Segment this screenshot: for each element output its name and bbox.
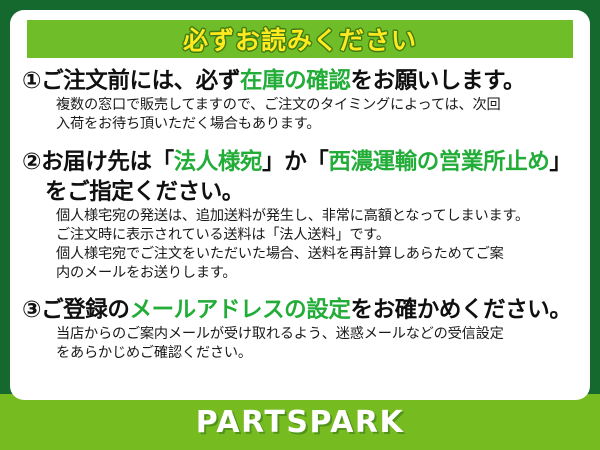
header-title: 必ずお読みください [183,21,417,57]
notice-item-1-subline-0: 複数の窓口で販売してますので、ご注文のタイミングによっては、次回 [22,96,580,115]
notice-item-3: ③ご登録のメールアドレスの設定をお確かめください。 当店からのご案内メールが受け… [22,295,580,363]
notice-item-2-highlight-1: 西濃運輸の営業所止め [328,149,549,175]
notice-item-1-number: ① [22,68,41,94]
notice-item-3-subline-1: をあらかじめご確認ください。 [22,344,580,363]
notice-item-2-part-0: お届け先は「 [41,149,174,175]
notice-item-1: ①ご注文前には、必ず在庫の確認をお願いします。 複数の窓口で販売してますので、ご… [22,66,580,134]
header-band: 必ずお読みください [27,20,573,58]
notice-item-1-part-0: ご注文前には、必ず [41,68,240,94]
notice-item-2-subline-2: 個人様宅宛でご注文をいただいた場合、送料を再計算しあらためてご案 [22,245,580,264]
brand-logo-text: PARTSPARK [196,405,405,440]
notice-item-3-part-0: ご登録の [41,297,129,323]
notice-item-2-subline-1: ご注文時に表示されている送料は「法人送料」です。 [22,226,580,245]
notice-item-2-heading: ②お届け先は「法人様宛」か「西濃運輸の営業所止め」 [22,147,580,177]
notice-item-2-number: ② [22,149,41,175]
notice-item-3-subline-0: 当店からのご案内メールが受け取れるよう、迷惑メールなどの受信設定 [22,325,580,344]
notice-item-2-heading-continuation: をご指定ください。 [22,177,580,207]
notice-items-list: ①ご注文前には、必ず在庫の確認をお願いします。 複数の窓口で販売してますので、ご… [10,66,590,369]
notice-item-1-part-2: をお願いします。 [351,68,526,94]
notice-item-2: ②お届け先は「法人様宛」か「西濃運輸の営業所止め」 をご指定ください。 個人様宅… [22,147,580,283]
notice-item-2-part-2: 」か「 [262,149,328,175]
notice-item-3-heading: ③ご登録のメールアドレスの設定をお確かめください。 [22,295,580,325]
notice-card: PARTSPARK 必ずお読みください ①ご注文前には、必ず在庫の確認をお願いし… [0,0,600,450]
content-panel: 必ずお読みください ①ご注文前には、必ず在庫の確認をお願いします。 複数の窓口で… [10,10,590,400]
notice-item-1-heading: ①ご注文前には、必ず在庫の確認をお願いします。 [22,66,580,96]
notice-item-3-part-2: をお確かめください。 [351,297,572,323]
notice-item-1-highlight: 在庫の確認 [240,68,351,94]
notice-item-2-subline-0: 個人様宅宛の発送は、追加送料が発生し、非常に高額となってしまいます。 [22,207,580,226]
notice-item-1-subline-1: 入荷をお待ち頂いただく場合もあります。 [22,115,580,134]
footer-band: PARTSPARK [0,394,600,450]
notice-item-3-highlight: メールアドレスの設定 [129,297,350,323]
notice-item-2-highlight-0: 法人様宛 [174,149,262,175]
notice-item-2-subline-3: 内のメールをお送りします。 [22,264,580,283]
notice-item-3-number: ③ [22,297,41,323]
notice-item-2-part-4: 」 [549,149,571,175]
